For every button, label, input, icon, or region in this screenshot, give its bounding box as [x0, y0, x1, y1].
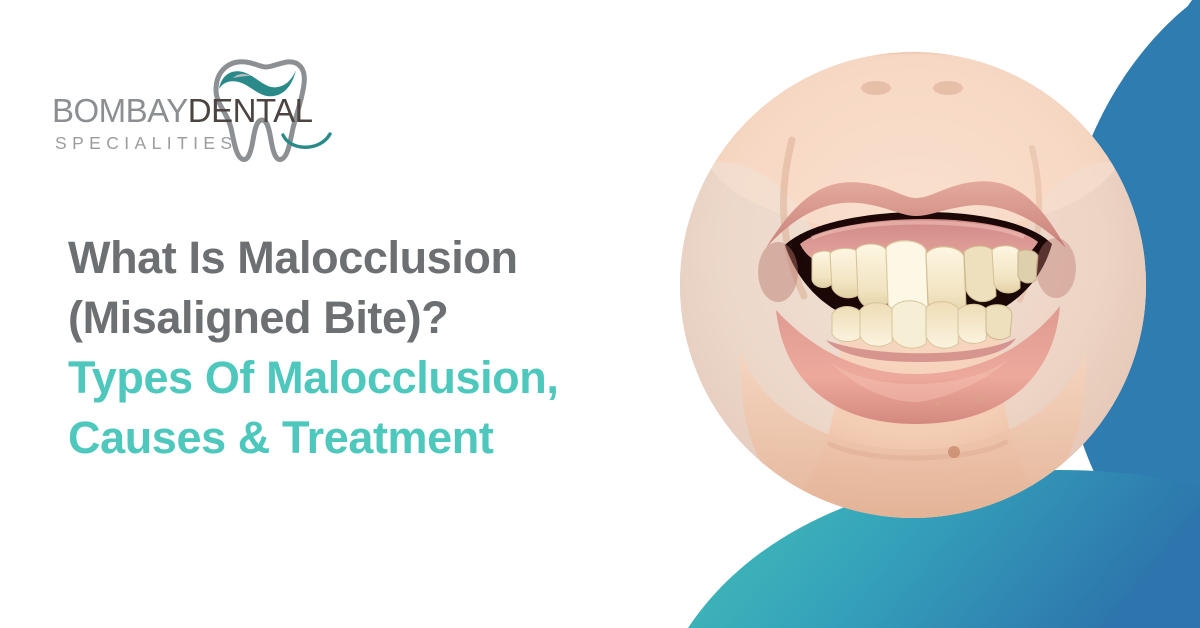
- teeth-photo-circle: [680, 52, 1146, 518]
- teeth-photo-svg: [680, 52, 1146, 518]
- logo-tagline: SPECIALITIES: [55, 133, 237, 154]
- headline-line-1: What Is Malocclusion: [68, 228, 668, 288]
- logo-word-bombay: BOMBAY: [52, 92, 188, 129]
- headline-line-4: Causes & Treatment: [68, 408, 668, 468]
- smile-curve-icon: [280, 130, 340, 156]
- headline-line-2: (Misaligned Bite)?: [68, 288, 668, 348]
- teeth-photo: [680, 52, 1146, 518]
- headline-line-3: Types Of Malocclusion,: [68, 348, 668, 408]
- article-banner: BOMBAYDENTAL SPECIALITIES What Is Malocc…: [0, 0, 1200, 628]
- logo-wordmark: BOMBAYDENTAL: [52, 94, 352, 127]
- headline-block: What Is Malocclusion (Misaligned Bite)? …: [68, 228, 668, 467]
- brand-logo[interactable]: BOMBAYDENTAL SPECIALITIES: [52, 58, 352, 166]
- logo-word-dental: DENTAL: [188, 92, 313, 129]
